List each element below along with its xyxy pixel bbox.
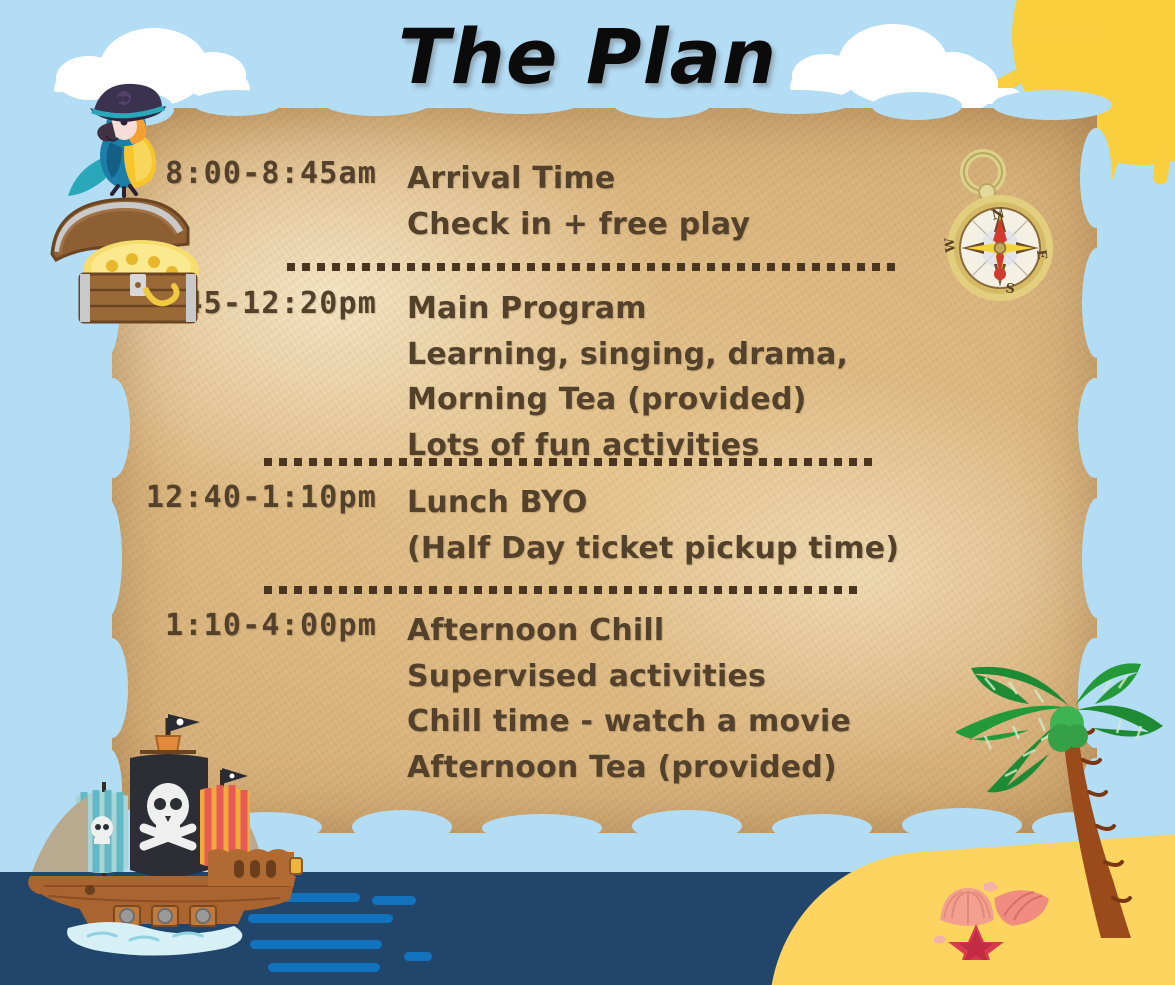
- wave-lines-icon: [372, 896, 416, 905]
- schedule-line: Learning, singing, drama,: [407, 332, 848, 378]
- schedule-line: Morning Tea (provided): [407, 377, 848, 423]
- svg-text:W: W: [942, 237, 959, 254]
- row-divider: [287, 263, 897, 271]
- schedule-line: (Half Day ticket pickup time): [407, 526, 899, 572]
- compass-icon: N E S W: [925, 140, 1075, 310]
- pirate-schedule-poster: The Plan 8:00-8:45am Arrival Time Check …: [0, 0, 1175, 985]
- schedule-line: Arrival Time: [407, 156, 750, 202]
- row-divider: [264, 458, 874, 466]
- schedule-description: Arrival Time Check in + free play: [407, 156, 750, 247]
- schedule-time: 1:10-4:00pm: [112, 608, 377, 645]
- pirate-parrot-icon: [62, 78, 192, 218]
- schedule-line: Chill time - watch a movie: [407, 699, 851, 745]
- schedule-line: Afternoon Tea (provided): [407, 745, 851, 791]
- schedule-line: Afternoon Chill: [407, 608, 851, 654]
- schedule-line: Main Program: [407, 286, 848, 332]
- schedule-line: Supervised activities: [407, 654, 851, 700]
- pirate-ship-icon: [18, 700, 308, 975]
- wave-lines-icon: [404, 952, 432, 961]
- schedule-line: Lunch BYO: [407, 480, 899, 526]
- seashells-icon: [930, 880, 1060, 960]
- schedule-time: 12:40-1:10pm: [112, 480, 377, 517]
- svg-text:E: E: [1033, 249, 1049, 261]
- schedule-description: Afternoon Chill Supervised activities Ch…: [407, 608, 851, 790]
- schedule-description: Main Program Learning, singing, drama, M…: [407, 286, 848, 468]
- schedule-line: Check in + free play: [407, 202, 750, 248]
- schedule-description: Lunch BYO (Half Day ticket pickup time): [407, 480, 899, 571]
- row-divider: [264, 586, 862, 594]
- schedule-row: 12:40-1:10pm Lunch BYO (Half Day ticket …: [112, 480, 899, 571]
